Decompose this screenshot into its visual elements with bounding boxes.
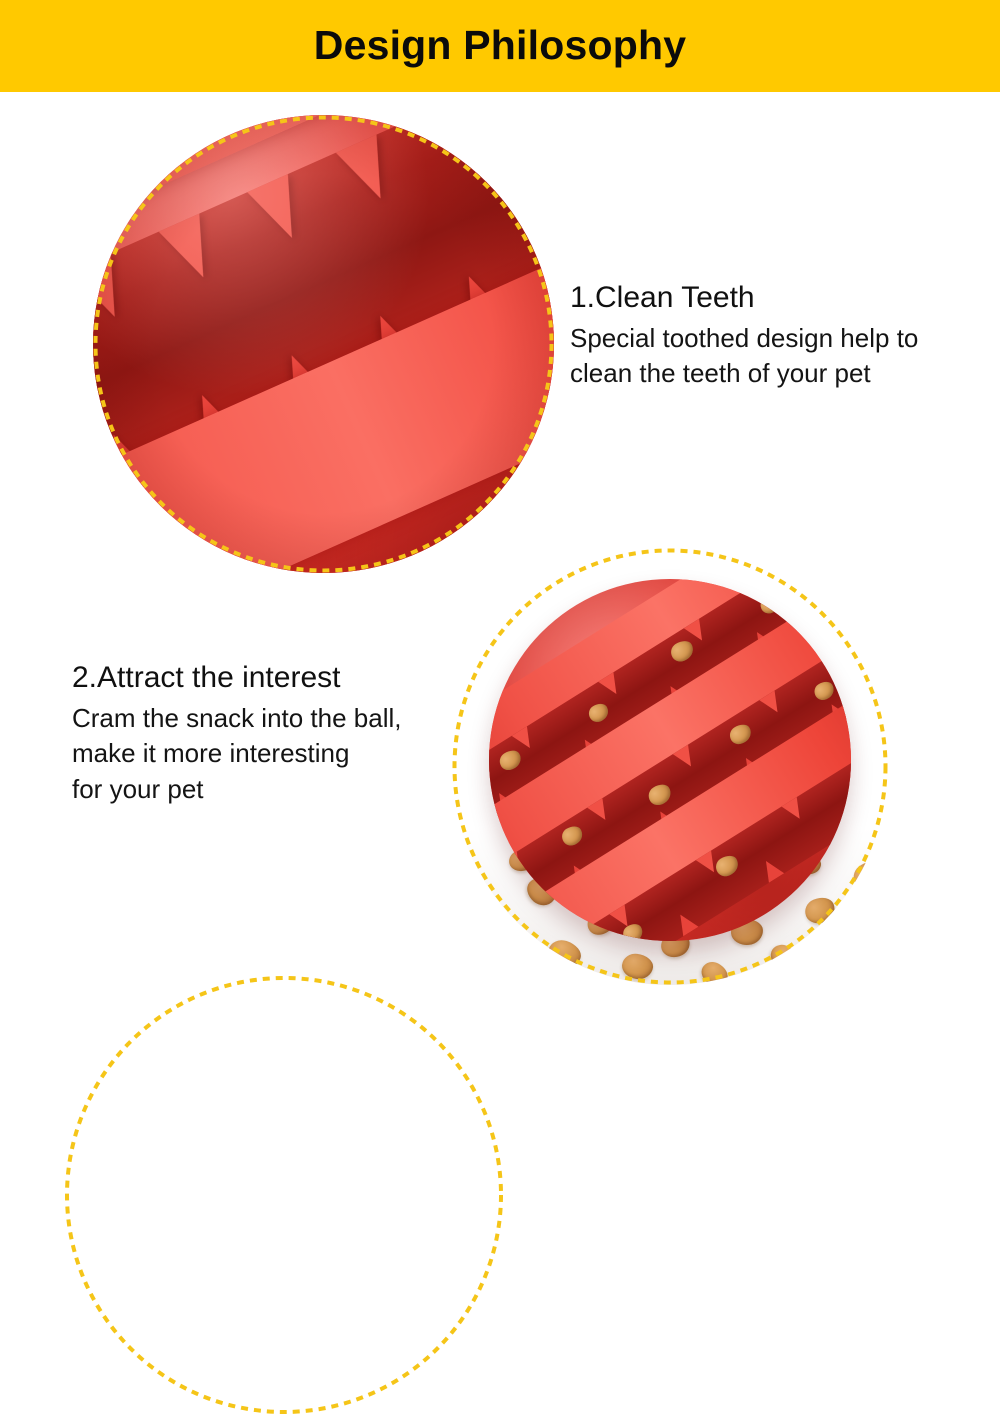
dashed-circle-partial-bottom	[64, 975, 504, 1415]
feature-heading: 2.Attract the interest	[72, 661, 402, 695]
feature-description-line: Special toothed design help to	[570, 321, 918, 357]
feature-description-line: for your pet	[72, 772, 402, 808]
header-banner: Design Philosophy	[0, 0, 1000, 92]
feature-text-clean-teeth: 1.Clean Teeth Special toothed design hel…	[570, 281, 918, 392]
feature-heading: 1.Clean Teeth	[570, 281, 918, 315]
feature-description-line: clean the teeth of your pet	[570, 356, 918, 392]
feature-description-line: Cram the snack into the ball,	[72, 701, 402, 737]
page-title: Design Philosophy	[314, 25, 686, 66]
feature-text-attract-interest: 2.Attract the interest Cram the snack in…	[72, 661, 402, 808]
dashed-circle-clean-teeth	[93, 115, 554, 573]
feature-description-line: make it more interesting	[72, 736, 402, 772]
dashed-circle-attract-interest	[452, 548, 888, 985]
